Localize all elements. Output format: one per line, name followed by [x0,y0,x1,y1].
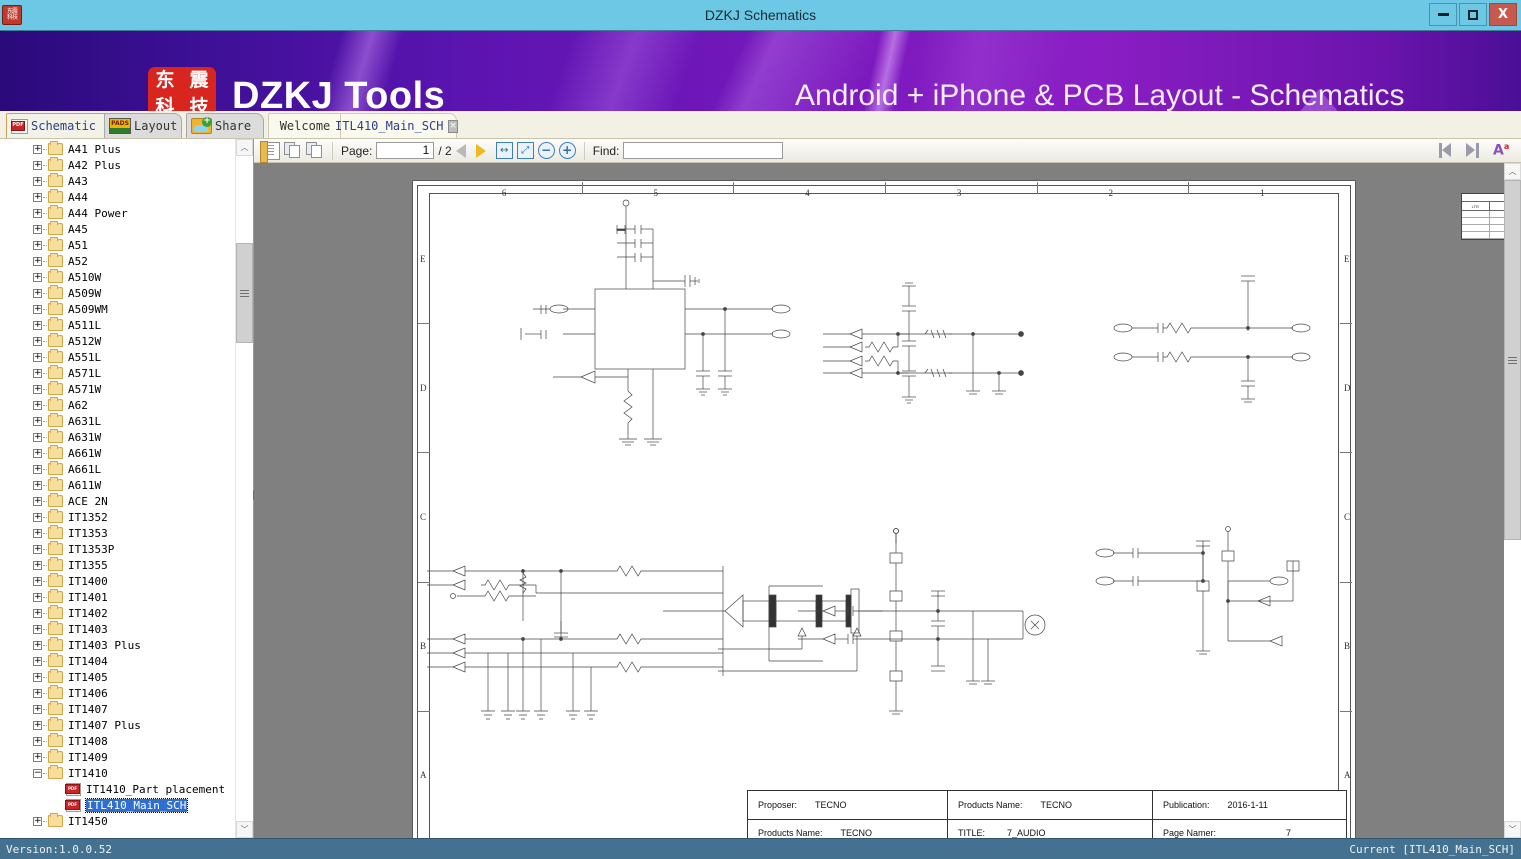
maximize-icon [1468,10,1478,20]
expand-icon[interactable]: + [33,177,42,186]
pdf-icon [11,119,28,134]
zone-tick [1340,452,1352,453]
window-controls: X [1429,3,1517,26]
publication-cell: Publication: 2016-1-11 [1153,791,1346,819]
tree-item-it1407-plus[interactable]: +IT1407 Plus [0,717,232,733]
table-row [1462,225,1504,232]
expand-icon[interactable]: + [33,529,42,538]
folder-icon [48,239,63,251]
tree-item-a611w[interactable]: +A611W [0,477,232,493]
expand-icon[interactable]: + [33,721,42,730]
title-block-row-2: Products Name: TECNO TITLE: 7_AUDIO Page… [748,820,1346,839]
expand-icon[interactable]: + [33,609,42,618]
folder-icon [48,687,63,699]
copy-page-alt-icon[interactable] [306,142,324,160]
folder-icon [48,367,63,379]
folder-icon [48,175,63,187]
tree-item-a51[interactable]: +A51 [0,237,232,253]
version-label: Version:1.0.0.52 [6,843,112,856]
zone-tick [418,711,430,712]
tree-item-a510w[interactable]: +A510W [0,269,232,285]
pdf-toolbar: Page: 1 / 2 ↔ ⤢ − + Find: Aa [254,139,1521,163]
minimize-button[interactable] [1429,3,1457,26]
expand-icon[interactable]: + [33,257,42,266]
tree-item-a571w[interactable]: +A571W [0,381,232,397]
tree-item-a41-plus[interactable]: +A41 Plus [0,141,232,157]
zone-tick [1037,182,1038,194]
tree-item-a511l[interactable]: +A511L [0,317,232,333]
scroll-grip-icon [240,290,249,297]
expand-icon[interactable]: + [33,673,42,682]
collapse-icon[interactable]: − [33,769,42,778]
page-namer-cell: Page Namer: 7 [1153,820,1346,839]
minimize-icon [1438,13,1449,16]
tree-item-it1409[interactable]: +IT1409 [0,749,232,765]
revision-block-title: REVISION RECORD [1462,194,1504,202]
status-bar: Version:1.0.0.52 Current [ITL410_Main_SC… [0,838,1521,859]
tree-item-a45[interactable]: +A45 [0,221,232,237]
expand-icon[interactable]: + [33,273,42,282]
tree-item-label: IT1403 Plus [68,639,141,652]
tree-item-it1403[interactable]: +IT1403 [0,621,232,637]
folder-icon [48,335,63,347]
zone-tick [885,182,886,194]
zone-row-A: A [420,770,427,780]
tree-item-it1408[interactable]: +IT1408 [0,733,232,749]
folder-icon [48,495,63,507]
tree-item-label: A52 [68,255,88,268]
expand-icon[interactable]: + [33,657,42,666]
expand-icon[interactable]: + [33,417,42,426]
tree-item-a62[interactable]: +A62 [0,397,232,413]
folder-icon [48,607,63,619]
zone-row-B: B [420,641,426,651]
tree-item-it1407[interactable]: +IT1407 [0,701,232,717]
pdf-file-icon [66,799,81,812]
expand-icon[interactable]: + [33,449,42,458]
tree-item-label: A51 [68,239,88,252]
tab-layout[interactable]: Layout [104,113,182,138]
folder-icon [48,143,63,155]
pdf-file-icon [66,783,81,796]
tree-item-label: A661L [68,463,101,476]
folder-icon [48,319,63,331]
proposer-value: TECNO [815,800,847,810]
expand-icon[interactable]: + [33,161,42,170]
tab-itl410-main-sch-label: ITL410_Main_SCH [335,119,443,133]
tree-item-it1352[interactable]: +IT1352 [0,509,232,525]
expand-icon[interactable]: + [33,689,42,698]
folder-icon [48,271,63,283]
tree-item-a551l[interactable]: +A551L [0,349,232,365]
folder-icon [48,383,63,395]
tree-item-label: A631L [68,415,101,428]
page-frame-inner [429,193,1339,838]
tree-item-a509wm[interactable]: +A509WM [0,301,232,317]
file-tree[interactable]: +A41 Plus+A42 Plus+A43+A44+A44 Power+A45… [0,139,232,838]
table-row [1462,211,1504,218]
page-namer-value: 7 [1286,828,1291,838]
folder-icon [48,767,63,779]
folder-icon [48,527,63,539]
zone-row-B: B [1344,641,1350,651]
tree-item-label: A41 Plus [68,143,121,156]
folder-icon [48,447,63,459]
folder-icon [48,351,63,363]
zone-col-5: 5 [654,188,659,198]
schematic-page: 665544332211EEDDCCBBAA REVISION RECORD L… [412,180,1356,838]
tree-item-it1401[interactable]: +IT1401 [0,589,232,605]
zone-row-E: E [420,254,426,264]
products-name-cell-2: Products Name: TECNO [748,820,948,839]
proposer-cell: Proposer: TECNO [748,791,948,819]
share-folder-icon [191,118,212,134]
schematic-title-value: 7_AUDIO [1007,828,1046,838]
title-bar: 东震科技 DZKJ Schematics X [0,0,1521,31]
folder-icon [48,719,63,731]
copy-page-icon[interactable] [284,142,302,160]
folder-icon [48,751,63,763]
tab-schematic[interactable]: Schematic [6,113,116,138]
folder-icon [48,655,63,667]
brand-name: DZKJ Tools [232,75,445,111]
tree-item-label: IT1409 [68,751,108,764]
tree-item-a571l[interactable]: +A571L [0,365,232,381]
fit-width-icon[interactable]: ↔ [496,142,513,159]
products-name-label-1: Products Name: [958,800,1023,810]
viewer-scroll-down-icon[interactable]: ﹀ [1504,821,1521,838]
expand-icon[interactable]: + [33,497,42,506]
toolbar-separator [332,142,333,160]
revision-header-eco: ECO NO. [1490,202,1504,210]
tab-layout-label: Layout [134,119,177,133]
tree-item-label: IT1407 Plus [68,719,141,732]
expand-icon[interactable]: + [33,289,42,298]
find-prev-icon[interactable] [1439,143,1456,158]
products-name-value-1: TECNO [1041,800,1073,810]
tree-scrollbar[interactable]: ︿ ﹀ [235,139,252,838]
dzkj-logo-icon: 东 震 科 技 [148,67,216,111]
page-label: Page: [341,144,372,158]
proposer-label: Proposer: [758,800,797,810]
tree-item-label: A44 Power [68,207,128,220]
publication-value: 2016-1-11 [1228,800,1268,810]
tab-schematic-label: Schematic [31,119,96,133]
tree-item-a44[interactable]: +A44 [0,189,232,205]
tree-item-label: IT1408 [68,735,108,748]
expand-icon[interactable]: + [33,817,42,826]
logo-char-2: 震 [189,71,208,90]
tree-item-label: A551L [68,351,101,364]
tree-item-a43[interactable]: +A43 [0,173,232,189]
folder-icon [48,463,63,475]
zone-row-D: D [420,383,427,393]
tree-item-label: IT1450 [68,815,108,828]
zone-tick [582,182,583,194]
tree-item-label: A571L [68,367,101,380]
folder-icon [48,255,63,267]
logo-char-3: 科 [155,98,174,111]
pads-icon [109,118,131,134]
tree-item-label: A571W [68,383,101,396]
tree-item-label: A42 Plus [68,159,121,172]
expand-icon[interactable]: + [33,241,42,250]
find-options-icon[interactable]: Aa [1493,142,1511,159]
tree-item-label: A631W [68,431,101,444]
page-namer-label: Page Namer: [1163,828,1216,838]
zone-tick [418,582,430,583]
toolbar-separator-2 [584,142,585,160]
tree-item-it1402[interactable]: +IT1402 [0,605,232,621]
folder-icon [48,591,63,603]
folder-icon [48,671,63,683]
tree-item-it1404[interactable]: +IT1404 [0,653,232,669]
tree-item-a509w[interactable]: +A509W [0,285,232,301]
tree-item-label: IT1401 [68,591,108,604]
table-row [1462,232,1504,239]
expand-icon[interactable]: + [33,705,42,714]
expand-icon[interactable]: + [33,513,42,522]
tree-item-it1450[interactable]: +IT1450 [0,813,232,829]
tree-item-a631l[interactable]: +A631L [0,413,232,429]
tree-item-it1353[interactable]: +IT1353 [0,525,232,541]
document-icon[interactable] [262,142,280,160]
tree-item-a42-plus[interactable]: +A42 Plus [0,157,232,173]
close-icon[interactable]: × [448,120,458,133]
tab-share-label: Share [215,119,251,133]
logo-char-1: 东 [155,71,174,90]
tree-item-label: IT1353P [68,543,114,556]
expand-icon[interactable]: + [33,321,42,330]
expand-icon[interactable]: + [33,433,42,442]
folder-icon [48,815,63,827]
zone-col-1: 1 [1260,188,1265,198]
tree-item-label: IT1407 [68,703,108,716]
zone-tick [1340,711,1352,712]
tab-bar: Schematic Layout Share Welcome ITL410_Ma… [0,111,1521,139]
products-name-label-2: Products Name: [758,828,823,838]
tree-item-it1400[interactable]: +IT1400 [0,573,232,589]
tree-item-label: IT1352 [68,511,108,524]
expand-icon[interactable]: + [33,753,42,762]
tree-item-label: A62 [68,399,88,412]
tree-item-it1405[interactable]: +IT1405 [0,669,232,685]
expand-icon[interactable]: + [33,481,42,490]
tree-item-label: IT1410_Part placement [86,783,225,796]
revision-header-ltr: LTR [1462,202,1490,210]
schematic-title-label: TITLE: [958,828,985,838]
tree-item-label: IT1404 [68,655,108,668]
tree-item-a661w[interactable]: +A661W [0,445,232,461]
expand-icon[interactable]: + [33,577,42,586]
tree-item-label: ITL410_Main_SCH [86,799,187,812]
folder-icon [48,511,63,523]
tree-item-label: IT1406 [68,687,108,700]
products-name-cell-1: Products Name: TECNO [948,791,1153,819]
zone-tick [733,182,734,194]
folder-icon [48,431,63,443]
tree-item-label: IT1355 [68,559,108,572]
pdf-canvas[interactable]: 665544332211EEDDCCBBAA REVISION RECORD L… [254,163,1504,838]
zone-col-3: 3 [957,188,962,198]
expand-icon[interactable]: + [33,401,42,410]
close-button[interactable]: X [1489,3,1517,26]
zone-col-2: 2 [1109,188,1114,198]
revision-block-headers: LTR ECO NO. APPROVED DATE [1462,202,1504,211]
application-window: 东震科技 DZKJ Schematics X 东 震 科 技 DZKJ Tool… [0,0,1521,859]
prev-page-icon[interactable] [456,144,466,158]
banner-tagline: Android + iPhone & PCB Layout - Schemati… [795,79,1405,111]
tree-item-label: A509WM [68,303,108,316]
tree-scroll-up-icon[interactable]: ︿ [236,139,253,156]
folder-icon [48,559,63,571]
folder-icon [48,191,63,203]
scroll-grip-icon [1508,357,1517,364]
schematic-title-cell: TITLE: 7_AUDIO [948,820,1153,839]
tree-item-label: A44 [68,191,88,204]
zone-row-D: D [1344,383,1351,393]
folder-icon [48,479,63,491]
folder-icon [48,575,63,587]
tree-item-label: A511L [68,319,101,332]
find-input[interactable] [623,142,783,159]
tree-scroll-down-icon[interactable]: ﹀ [236,821,253,838]
current-file-label: Current [ITL410_Main_SCH] [1349,843,1515,856]
expand-icon[interactable]: + [33,737,42,746]
revision-block: REVISION RECORD LTR ECO NO. APPROVED DAT… [1461,193,1504,240]
folder-icon [48,303,63,315]
tree-item-a631w[interactable]: +A631W [0,429,232,445]
tree-item-label: IT1353 [68,527,108,540]
table-row [1462,218,1504,225]
expand-icon[interactable]: + [33,385,42,394]
window-title: DZKJ Schematics [0,7,1521,23]
title-block: Proposer: TECNO Products Name: TECNO Pub… [747,790,1347,838]
pdf-viewer: Page: 1 / 2 ↔ ⤢ − + Find: Aa [254,139,1521,838]
zone-tick [418,323,430,324]
logo-char-4: 技 [189,98,208,111]
tree-item-a512w[interactable]: +A512W [0,333,232,349]
zoom-out-icon[interactable]: − [538,142,555,159]
products-name-value-2: TECNO [841,828,873,838]
tree-item-label: IT1403 [68,623,108,636]
tree-item-it1410[interactable]: −IT1410 [0,765,232,781]
expand-icon[interactable]: + [33,225,42,234]
expand-icon[interactable]: + [33,593,42,602]
tree-item-it1353p[interactable]: +IT1353P [0,541,232,557]
tree-item-itl410-main-sch[interactable]: ITL410_Main_SCH [0,797,232,813]
expand-icon[interactable]: + [33,625,42,634]
banner-streak-2 [533,31,707,111]
title-block-row-1: Proposer: TECNO Products Name: TECNO Pub… [748,791,1346,820]
folder-icon [48,703,63,715]
zoom-in-icon[interactable]: + [559,142,576,159]
tree-item-a44-power[interactable]: +A44 Power [0,205,232,221]
tab-itl410-main-sch[interactable]: ITL410_Main_SCH × [340,113,457,138]
tree-item-it1403-plus[interactable]: +IT1403 Plus [0,637,232,653]
viewer-scroll-thumb[interactable] [1504,180,1521,540]
zone-col-6: 6 [502,188,507,198]
tree-item-label: A510W [68,271,101,284]
folder-icon [48,399,63,411]
folder-icon [48,735,63,747]
tab-share[interactable]: Share [186,113,264,138]
next-page-icon[interactable] [476,144,486,158]
expand-icon[interactable]: + [33,465,42,474]
tree-item-a52[interactable]: +A52 [0,253,232,269]
folder-icon [48,543,63,555]
folder-icon [48,623,63,635]
find-next-icon[interactable] [1466,143,1483,158]
page-total: / 2 [438,144,451,158]
tree-item-label: IT1400 [68,575,108,588]
expand-icon[interactable]: + [33,561,42,570]
zone-tick [1188,182,1189,194]
expand-icon[interactable]: + [33,545,42,554]
zone-col-4: 4 [805,188,810,198]
viewer-scrollbar[interactable]: ︿ ﹀ [1504,163,1521,838]
zone-row-E: E [1344,254,1350,264]
brand-banner: 东 震 科 技 DZKJ Tools Android + iPhone & PC… [0,31,1521,111]
folder-icon [48,415,63,427]
folder-icon [48,639,63,651]
maximize-button[interactable] [1459,3,1487,26]
expand-icon[interactable]: + [33,641,42,650]
expand-icon[interactable]: + [33,353,42,362]
zone-tick [1340,582,1352,583]
page-input[interactable]: 1 [376,142,434,159]
find-label: Find: [593,144,620,158]
tree-item-label: A611W [68,479,101,492]
folder-icon [48,207,63,219]
tree-item-label: ACE 2N [68,495,108,508]
zone-tick [1340,323,1352,324]
folder-icon [48,223,63,235]
tree-scroll-thumb[interactable] [236,243,253,343]
expand-icon[interactable]: + [33,369,42,378]
tree-item-label: A45 [68,223,88,236]
tree-item-label: A661W [68,447,101,460]
expand-icon[interactable]: + [33,209,42,218]
expand-icon[interactable]: + [33,145,42,154]
tree-item-it1410-part-placement[interactable]: IT1410_Part placement [0,781,232,797]
expand-icon[interactable]: + [33,337,42,346]
tree-item-it1355[interactable]: +IT1355 [0,557,232,573]
tree-item-label: IT1402 [68,607,108,620]
zone-row-C: C [1344,512,1350,522]
tree-item-label: A509W [68,287,101,300]
folder-icon [48,287,63,299]
tree-item-it1406[interactable]: +IT1406 [0,685,232,701]
tab-welcome-label: Welcome [280,119,331,133]
expand-icon[interactable]: + [33,193,42,202]
zone-tick [418,452,430,453]
tree-item-ace-2n[interactable]: +ACE 2N [0,493,232,509]
fit-page-icon[interactable]: ⤢ [517,142,534,159]
tree-item-a661l[interactable]: +A661L [0,461,232,477]
tree-item-label: A43 [68,175,88,188]
tree-item-label: A512W [68,335,101,348]
viewer-scroll-up-icon[interactable]: ︿ [1504,163,1521,180]
expand-icon[interactable]: + [33,305,42,314]
tree-item-label: IT1405 [68,671,108,684]
tree-item-label: IT1410 [68,767,108,780]
folder-icon [48,159,63,171]
zone-row-A: A [1344,770,1351,780]
zone-row-C: C [420,512,426,522]
file-tree-pane: +A41 Plus+A42 Plus+A43+A44+A44 Power+A45… [0,139,254,838]
publication-label: Publication: [1163,800,1210,810]
